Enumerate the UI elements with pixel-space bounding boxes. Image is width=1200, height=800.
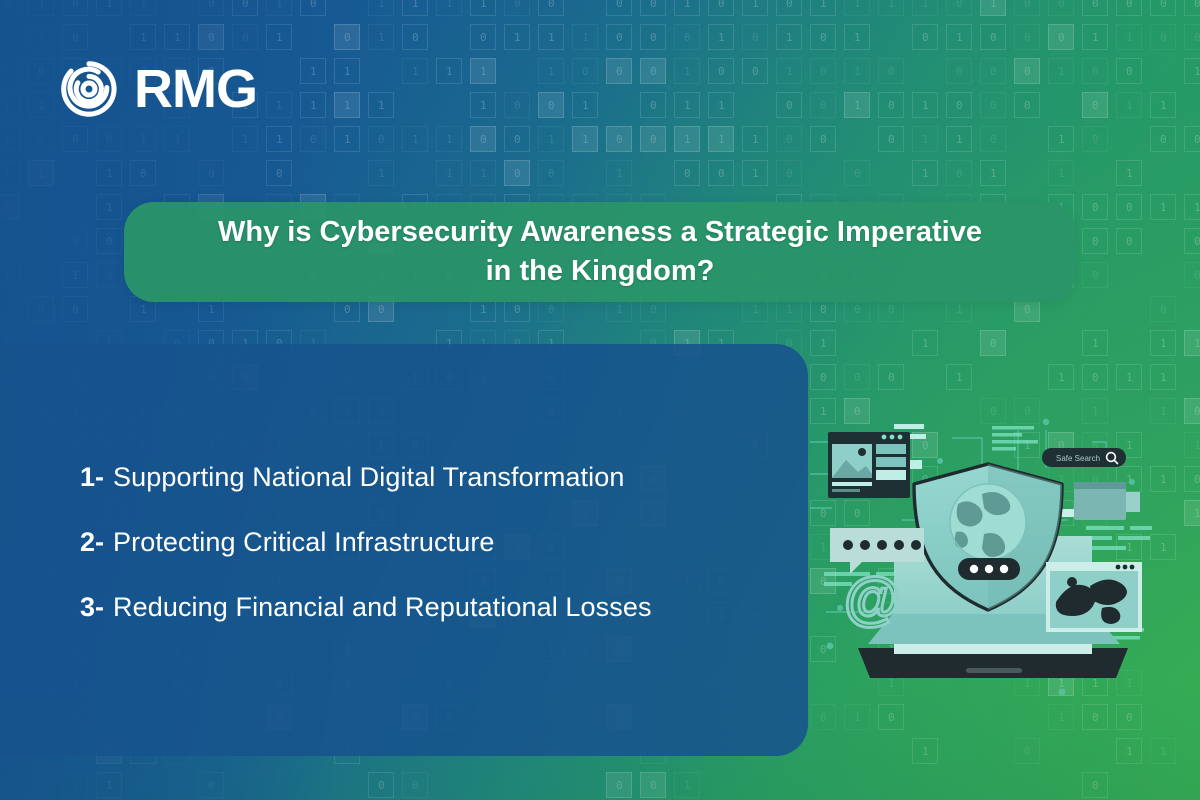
svg-text:Safe Search: Safe Search: [1056, 454, 1100, 463]
globe-icon: [950, 484, 1026, 560]
safe-search-bar: Safe Search: [1042, 448, 1126, 467]
page-title: Why is Cybersecurity Awareness a Strateg…: [192, 213, 1008, 291]
list-item: 3- Reducing Financial and Reputational L…: [80, 592, 780, 623]
list-item-number: 1-: [80, 462, 104, 493]
rmg-spiral-logo-icon: [58, 58, 120, 120]
list-item: 1- Supporting National Digital Transform…: [80, 462, 780, 493]
list-item: 2- Protecting Critical Infrastructure: [80, 527, 780, 558]
page-title-line-1: Why is Cybersecurity Awareness a Strateg…: [218, 216, 982, 248]
title-banner: Why is Cybersecurity Awareness a Strateg…: [124, 202, 1076, 302]
list-item-label: Supporting National Digital Transformati…: [113, 462, 624, 493]
list-item-number: 3-: [80, 592, 104, 623]
list-item-number: 2-: [80, 527, 104, 558]
cybersecurity-shield-laptop-illustration: Safe Search: [806, 416, 1174, 708]
at-symbol-icon: @: [844, 566, 901, 631]
poster-canvas: 0101100101111000010101111010000000101100…: [0, 0, 1200, 800]
points-list: 1- Supporting National Digital Transform…: [80, 462, 780, 623]
svg-text:@: @: [844, 566, 901, 631]
brand-logo: RMG: [58, 58, 257, 120]
world-map-window-icon: [1046, 562, 1142, 632]
page-title-line-2: in the Kingdom?: [486, 255, 715, 287]
browser-window-icon: [828, 432, 910, 498]
brand-name: RMG: [134, 62, 257, 116]
password-dots-shield: [958, 558, 1020, 580]
list-item-label: Protecting Critical Infrastructure: [113, 527, 495, 558]
list-item-label: Reducing Financial and Reputational Loss…: [113, 592, 652, 623]
